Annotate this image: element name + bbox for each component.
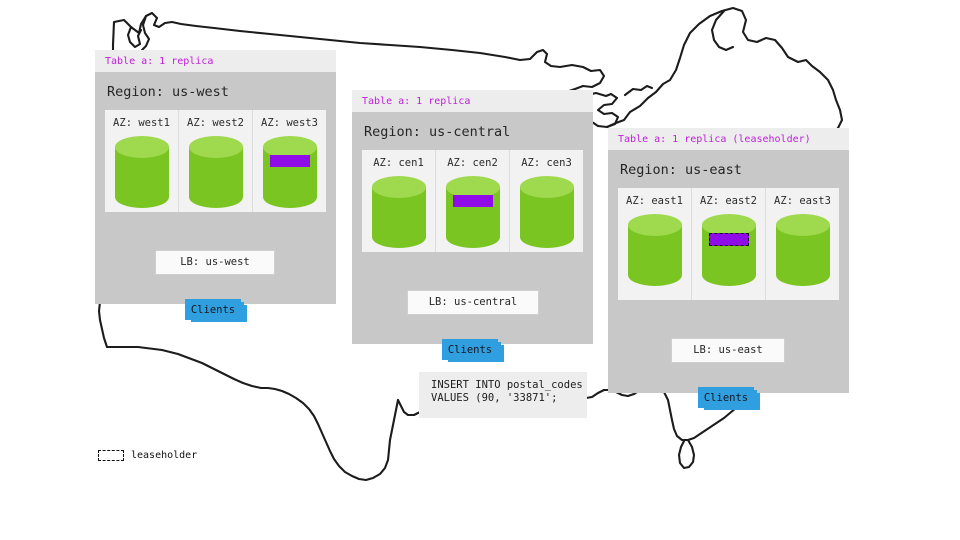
replica-summary-label: Table a: 1 replica [105, 56, 326, 67]
replica-block-west3[interactable] [270, 155, 310, 167]
node-cylinder-cen2[interactable] [444, 175, 502, 249]
region-title: Region: us-east [620, 162, 839, 178]
az-cell-east3[interactable]: AZ: east3 [766, 188, 839, 300]
region-title: Region: us-west [107, 84, 326, 100]
legend-label: leaseholder [131, 450, 197, 461]
az-cell-east2[interactable]: AZ: east2 [692, 188, 766, 300]
az-label: AZ: west2 [187, 117, 244, 129]
az-row-us-west: AZ: west1 AZ: west2 [105, 110, 326, 212]
az-cell-cen3[interactable]: AZ: cen3 [510, 150, 583, 252]
az-cell-west1[interactable]: AZ: west1 [105, 110, 179, 212]
node-cylinder-east3[interactable] [774, 213, 832, 287]
az-label: AZ: east3 [774, 195, 831, 207]
node-cylinder-cen1[interactable] [370, 175, 428, 249]
az-label: AZ: west3 [261, 117, 318, 129]
az-label: AZ: cen1 [373, 157, 424, 169]
node-cylinder-west2[interactable] [187, 135, 245, 209]
az-label: AZ: cen3 [521, 157, 572, 169]
clients-stack-us-east[interactable]: Clients [698, 387, 760, 410]
region-panel-us-central: Table a: 1 replica Region: us-central AZ… [352, 90, 593, 344]
replica-block-cen2[interactable] [453, 195, 493, 207]
region-panel-us-west: Table a: 1 replica Region: us-west AZ: w… [95, 50, 336, 304]
dashed-rect-icon [98, 450, 124, 461]
load-balancer-us-west[interactable]: LB: us-west [155, 250, 275, 275]
clients-label: Clients [185, 299, 241, 320]
node-cylinder-cen3[interactable] [518, 175, 576, 249]
node-cylinder-east1[interactable] [626, 213, 684, 287]
load-balancer-us-east[interactable]: LB: us-east [671, 338, 785, 363]
legend: leaseholder [98, 450, 197, 461]
panel-header-us-central: Table a: 1 replica [352, 90, 593, 112]
clients-stack-us-west[interactable]: Clients [185, 299, 247, 322]
az-label: AZ: east1 [626, 195, 683, 207]
az-cell-cen1[interactable]: AZ: cen1 [362, 150, 436, 252]
load-balancer-us-central[interactable]: LB: us-central [407, 290, 539, 315]
az-cell-cen2[interactable]: AZ: cen2 [436, 150, 510, 252]
clients-label: Clients [442, 339, 498, 360]
replica-summary-label: Table a: 1 replica [362, 96, 583, 107]
az-row-us-central: AZ: cen1 AZ: cen2 [362, 150, 583, 252]
node-cylinder-west3[interactable] [261, 135, 319, 209]
replica-block-east2-leaseholder[interactable] [709, 233, 749, 246]
diagram-canvas: 2 Table a: 1 replica Region: us-west AZ:… [0, 0, 960, 540]
az-cell-west3[interactable]: AZ: west3 [253, 110, 326, 212]
az-label: AZ: east2 [700, 195, 757, 207]
panel-header-us-west: Table a: 1 replica [95, 50, 336, 72]
clients-label: Clients [698, 387, 754, 408]
az-label: AZ: west1 [113, 117, 170, 129]
az-cell-west2[interactable]: AZ: west2 [179, 110, 253, 212]
replica-summary-label: Table a: 1 replica (leaseholder) [618, 134, 839, 145]
sql-line-2: VALUES (90, '33871'; [431, 392, 577, 405]
sql-line-1: INSERT INTO postal_codes [431, 379, 577, 392]
panel-body-us-west: Region: us-west AZ: west1 AZ: west2 [95, 72, 336, 304]
panel-body-us-east: Region: us-east AZ: east1 AZ: east2 [608, 150, 849, 393]
clients-stack-us-central[interactable]: Clients [442, 339, 504, 362]
az-cell-east1[interactable]: AZ: east1 [618, 188, 692, 300]
node-cylinder-east2[interactable] [700, 213, 758, 287]
sql-statement-box: INSERT INTO postal_codes VALUES (90, '33… [419, 372, 587, 418]
panel-body-us-central: Region: us-central AZ: cen1 AZ: cen2 [352, 112, 593, 344]
region-title: Region: us-central [364, 124, 583, 140]
az-row-us-east: AZ: east1 AZ: east2 [618, 188, 839, 300]
az-label: AZ: cen2 [447, 157, 498, 169]
panel-header-us-east: Table a: 1 replica (leaseholder) [608, 128, 849, 150]
region-panel-us-east: Table a: 1 replica (leaseholder) Region:… [608, 128, 849, 393]
node-cylinder-west1[interactable] [113, 135, 171, 209]
